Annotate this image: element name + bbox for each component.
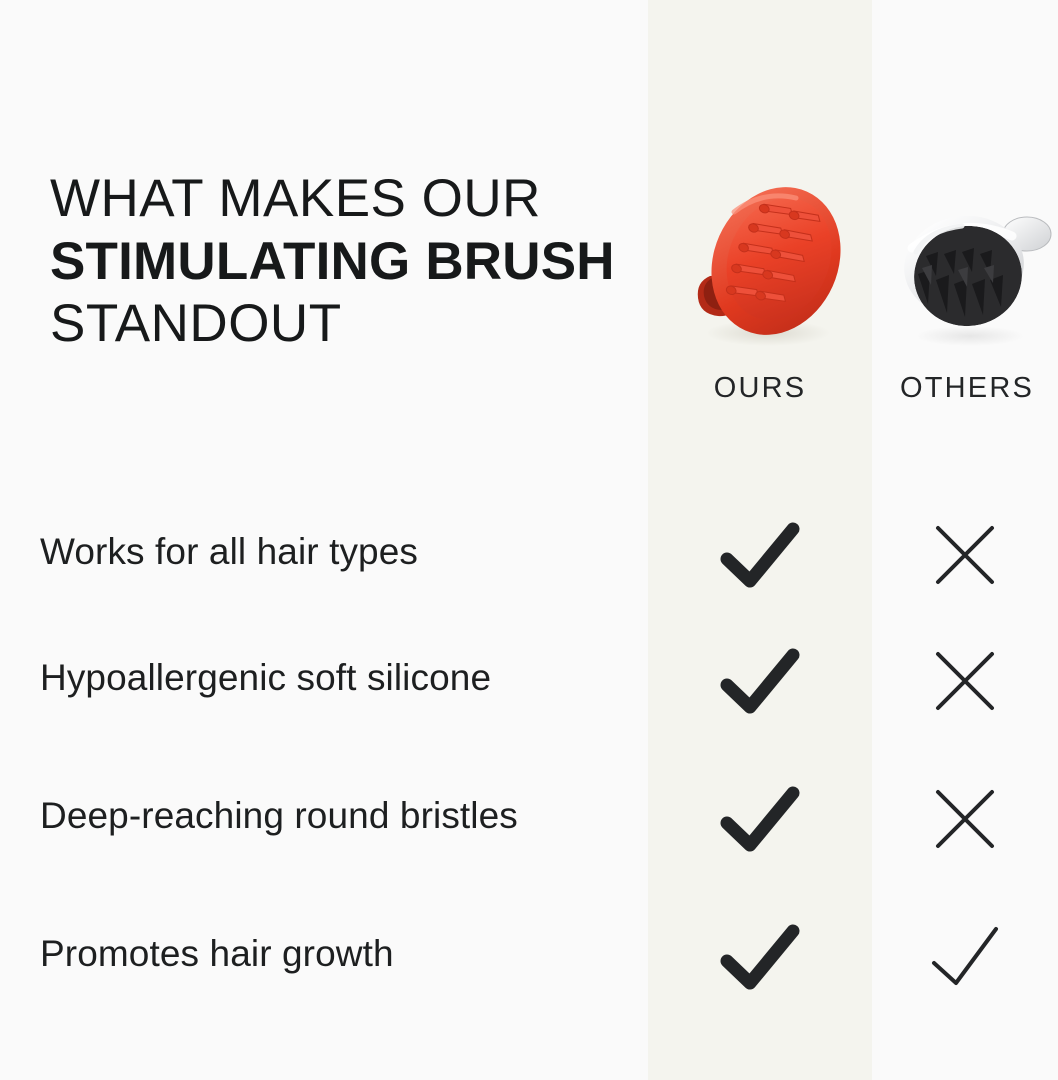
page-title: WHAT MAKES OUR STIMULATING BRUSH STANDOU… — [50, 168, 650, 356]
feature-label: Promotes hair growth — [40, 933, 394, 975]
others-cell — [872, 911, 1058, 1003]
others-cell — [872, 509, 1058, 601]
cross-icon — [931, 785, 999, 853]
feature-label: Deep-reaching round bristles — [40, 795, 518, 837]
others-cell — [872, 773, 1058, 865]
headline-line-1: WHAT MAKES OUR — [50, 168, 650, 231]
feature-label: Hypoallergenic soft silicone — [40, 657, 491, 699]
others-cell — [872, 635, 1058, 727]
cross-icon — [931, 521, 999, 589]
check-icon — [926, 921, 1004, 993]
ours-cell — [648, 911, 872, 1003]
ours-cell — [648, 509, 872, 601]
comparison-infographic: WHAT MAKES OUR STIMULATING BRUSH STANDOU… — [0, 0, 1058, 1080]
cross-icon — [931, 647, 999, 715]
headline-line-2: STIMULATING BRUSH — [50, 231, 650, 294]
others-product-image — [896, 196, 1058, 348]
check-icon — [717, 781, 803, 857]
ours-cell — [648, 635, 872, 727]
check-icon — [717, 517, 803, 593]
column-header-ours: OURS — [648, 372, 872, 405]
headline-line-3: STANDOUT — [50, 293, 650, 356]
check-icon — [717, 643, 803, 719]
check-icon — [717, 919, 803, 995]
ours-cell — [648, 773, 872, 865]
column-header-others: OTHERS — [872, 372, 1058, 405]
feature-label: Works for all hair types — [40, 531, 418, 573]
ours-product-image — [676, 178, 856, 350]
